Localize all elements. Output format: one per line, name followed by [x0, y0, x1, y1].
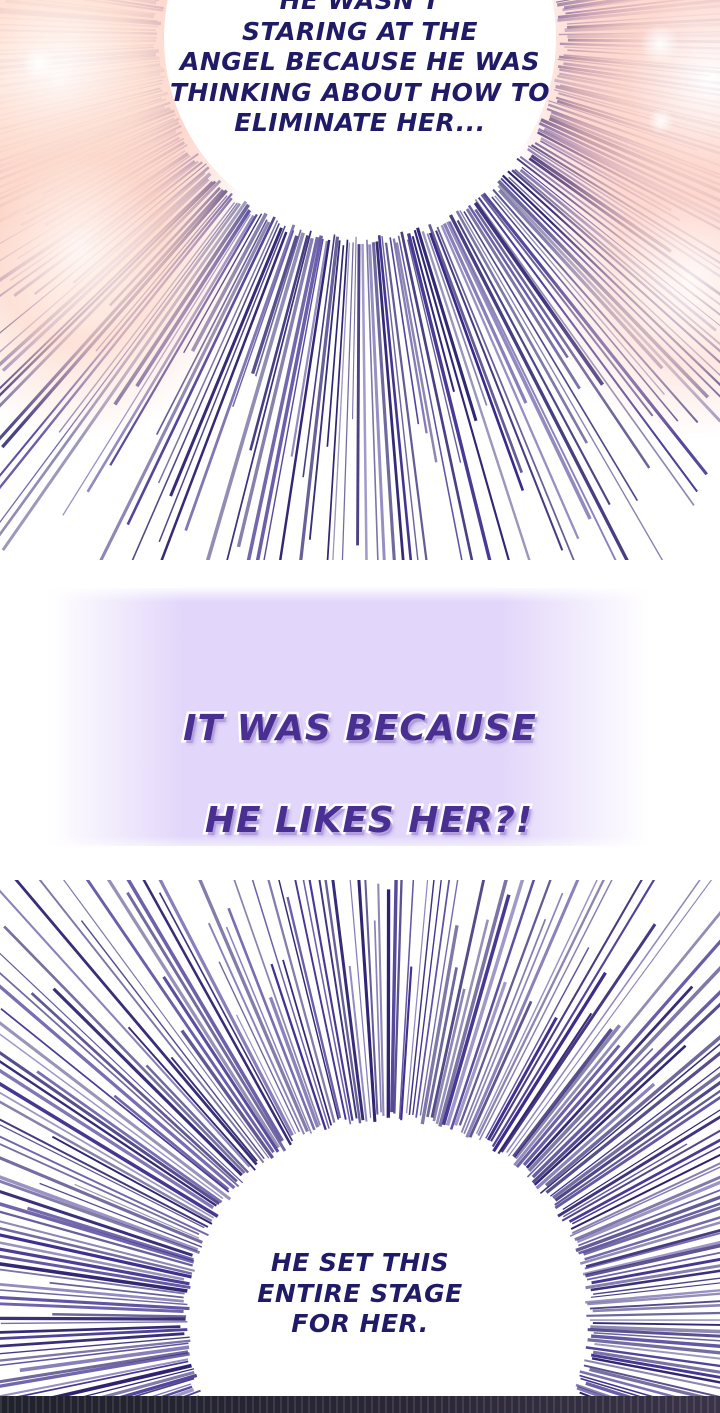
panel-top-radial-burst: HE WASN'T STARING AT THE ANGEL BECAUSE H…: [0, 0, 720, 560]
shout-caption: IT WAS BECAUSE HE LIKES HER?!: [80, 660, 640, 890]
panel-top-fade: [0, 588, 720, 602]
narration-caption-top: HE WASN'T STARING AT THE ANGEL BECAUSE H…: [130, 0, 590, 139]
shout-caption-line-2: HE LIKES HER?!: [80, 798, 640, 844]
narration-caption-bottom: HE SET THIS ENTIRE STAGE FOR HER.: [215, 1248, 505, 1340]
comic-page: HE WASN'T STARING AT THE ANGEL BECAUSE H…: [0, 0, 720, 1413]
shout-caption-line-1: IT WAS BECAUSE: [80, 706, 640, 752]
next-panel-dark-strip: [0, 1396, 720, 1413]
